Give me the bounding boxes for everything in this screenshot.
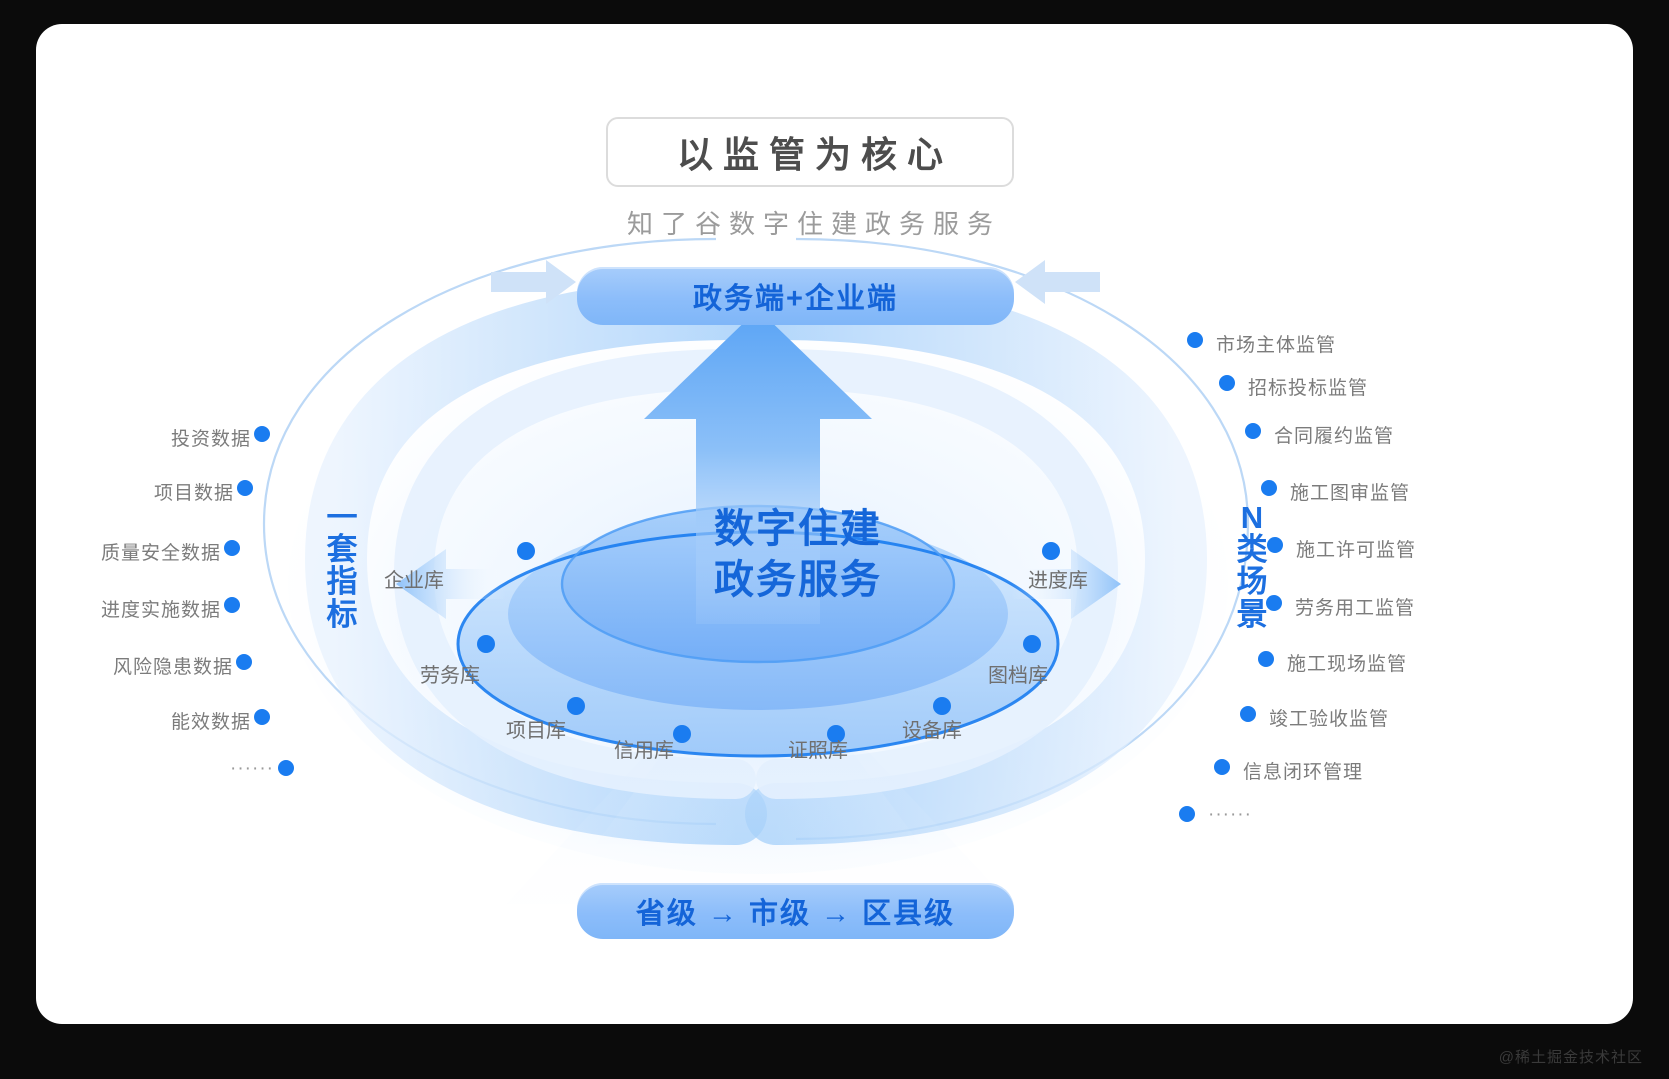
right-label-9: ······ xyxy=(1208,804,1252,826)
title-box: 以监管为核心 xyxy=(606,117,1014,187)
left-label-0: 投资数据 xyxy=(96,424,251,451)
band-label-left: 一 套 指 标 xyxy=(322,502,362,631)
right-label-0: 市场主体监管 xyxy=(1216,330,1336,357)
core-line-1: 数字住建 xyxy=(638,504,958,555)
db-label-labor: 劳务库 xyxy=(420,659,480,688)
left-label-4: 风险隐患数据 xyxy=(78,652,233,679)
db-label-equipment: 设备库 xyxy=(902,714,962,743)
db-label-project: 项目库 xyxy=(506,714,566,743)
diagram-card: 以监管为核心 知了谷数字住建政务服务 政务端+企业端 省级 → 市级 → 区县级… xyxy=(36,24,1633,1024)
right-label-2: 合同履约监管 xyxy=(1274,421,1394,448)
db-label-license: 证照库 xyxy=(788,734,848,763)
left-label-3: 进度实施数据 xyxy=(66,595,221,622)
right-label-7: 竣工验收监管 xyxy=(1269,704,1389,731)
db-label-archive: 图档库 xyxy=(988,659,1048,688)
db-label-enterprise: 企业库 xyxy=(384,564,444,593)
left-label-1: 项目数据 xyxy=(96,478,234,505)
core-label: 数字住建 政务服务 xyxy=(638,504,958,606)
right-label-8: 信息闭环管理 xyxy=(1243,757,1363,784)
page-title: 以监管为核心 xyxy=(667,126,953,178)
left-label-2: 质量安全数据 xyxy=(66,538,221,565)
right-label-6: 施工现场监管 xyxy=(1287,649,1407,676)
right-label-5: 劳务用工监管 xyxy=(1295,593,1415,620)
pill-bottom-label: 省级 → 市级 → 区县级 xyxy=(636,890,955,932)
db-label-progress: 进度库 xyxy=(1028,564,1088,593)
screenshot-stage: 以监管为核心 知了谷数字住建政务服务 政务端+企业端 省级 → 市级 → 区县级… xyxy=(0,0,1669,1079)
pill-bottom[interactable]: 省级 → 市级 → 区县级 xyxy=(577,883,1014,939)
right-label-1: 招标投标监管 xyxy=(1248,373,1368,400)
right-label-3: 施工图审监管 xyxy=(1290,478,1410,505)
pill-top-label: 政务端+企业端 xyxy=(693,275,898,317)
watermark: @稀土掘金技术社区 xyxy=(1499,1046,1643,1067)
db-label-credit: 信用库 xyxy=(614,734,674,763)
left-label-6: ······ xyxy=(146,758,274,780)
core-line-2: 政务服务 xyxy=(638,555,958,606)
right-label-4: 施工许可监管 xyxy=(1296,535,1416,562)
left-label-5: 能效数据 xyxy=(106,707,251,734)
page-subtitle: 知了谷数字住建政务服务 xyxy=(536,204,1084,241)
band-label-right: N 类 场 景 xyxy=(1230,502,1274,631)
pill-top[interactable]: 政务端+企业端 xyxy=(577,267,1014,325)
